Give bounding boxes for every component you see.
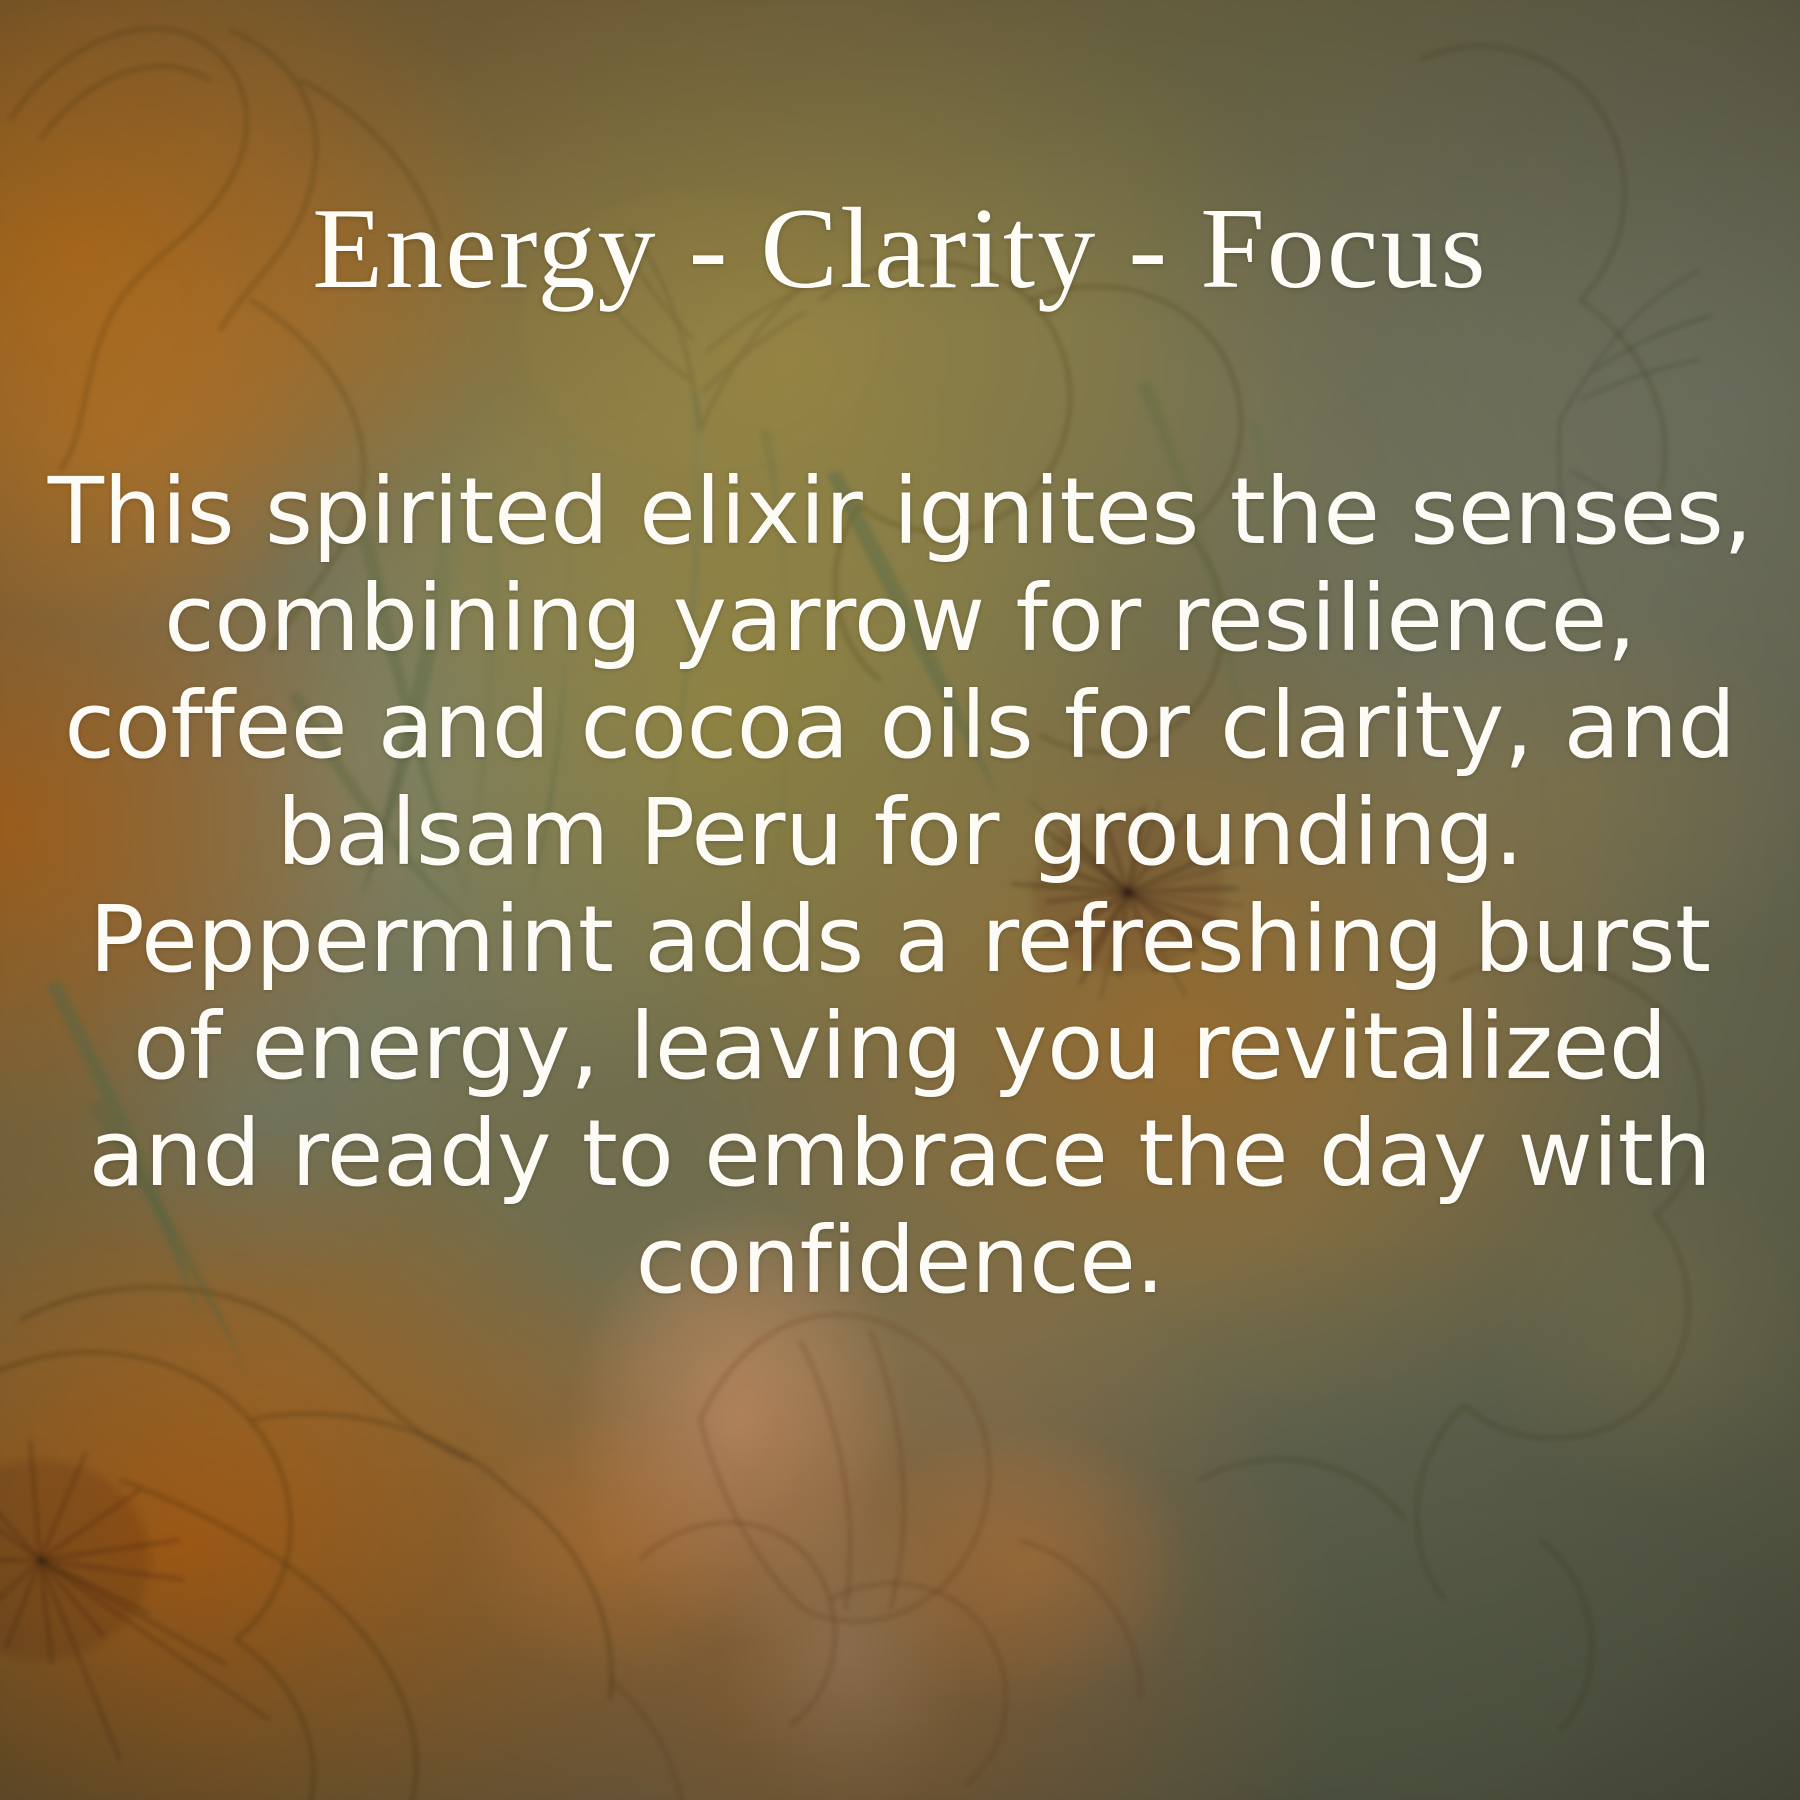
product-description-card: Energy - Clarity - Focus This spirited e… (0, 0, 1800, 1800)
card-headline: Energy - Clarity - Focus (0, 182, 1800, 317)
card-body-paragraph: This spirited elixir ignites the senses,… (40, 458, 1760, 1314)
card-content: Energy - Clarity - Focus This spirited e… (0, 0, 1800, 1800)
